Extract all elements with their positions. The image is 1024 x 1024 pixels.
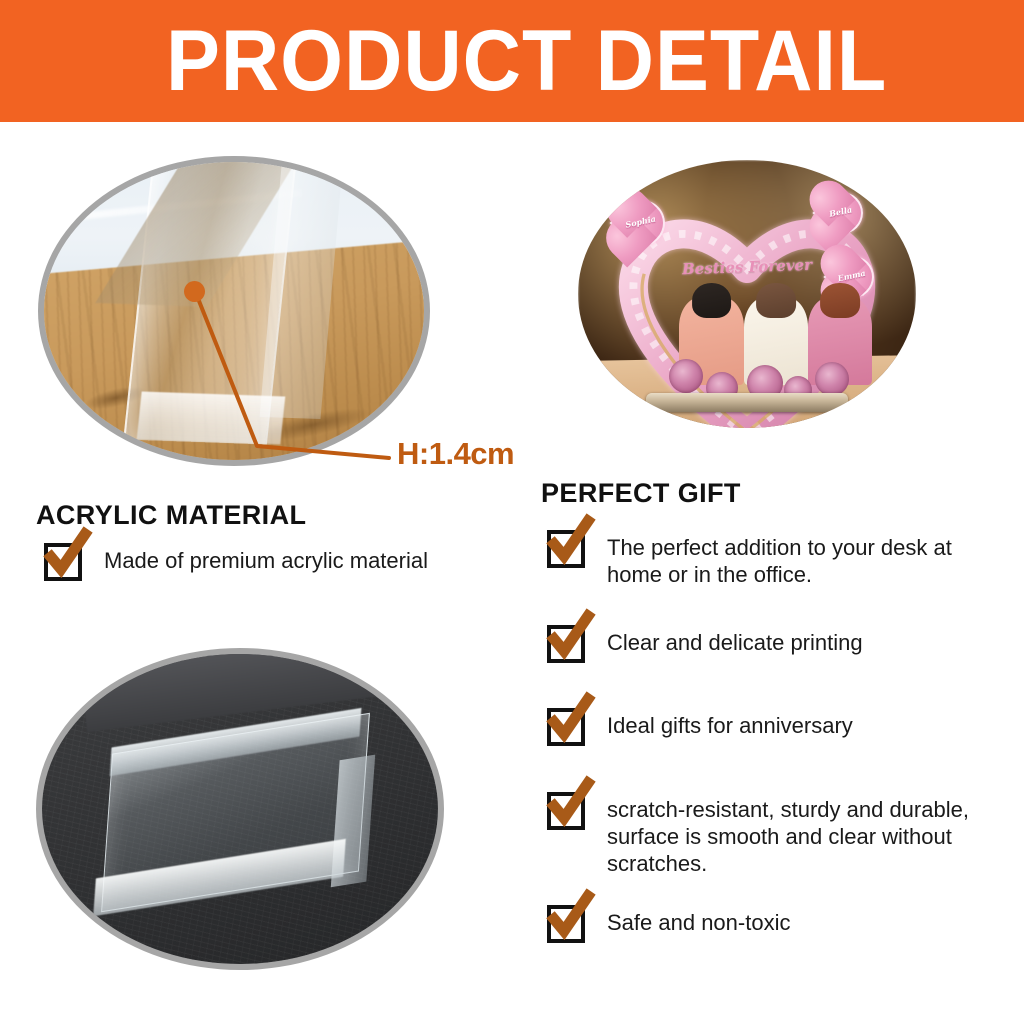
name-heart-bella-label: Bella — [829, 205, 854, 220]
besties-forever-acrylic-plaque: Besties Forever Sophia Bella Emma — [578, 160, 916, 428]
check-row-gift-1: The perfect addition to your desk at hom… — [547, 530, 999, 589]
check-row-gift-2: Clear and delicate printing — [547, 625, 999, 663]
product-detail-page: PRODUCT DETAIL H:1.4cm — [0, 0, 1024, 1024]
checkbox-icon[interactable] — [547, 905, 585, 943]
checkbox-icon[interactable] — [44, 543, 82, 581]
check-label: Clear and delicate printing — [607, 625, 863, 657]
photo-content-flat — [42, 654, 438, 964]
checkmark-icon — [547, 696, 593, 746]
measurement-dot — [184, 281, 205, 302]
checkbox-icon[interactable] — [547, 530, 585, 568]
plaque-base — [646, 393, 849, 412]
check-row-gift-4: scratch-resistant, sturdy and durable, s… — [547, 792, 1007, 877]
check-label: scratch-resistant, sturdy and durable, s… — [607, 792, 1007, 877]
page-header-banner: PRODUCT DETAIL — [0, 0, 1024, 122]
check-row-gift-3: Ideal gifts for anniversary — [547, 708, 999, 746]
check-label: The perfect addition to your desk at hom… — [607, 530, 999, 589]
checkbox-icon[interactable] — [547, 625, 585, 663]
checkmark-icon — [547, 893, 593, 943]
checkmark-icon — [547, 518, 593, 568]
acrylic-block-edge-photo — [38, 156, 430, 466]
checkbox-icon[interactable] — [547, 792, 585, 830]
checkbox-icon[interactable] — [547, 708, 585, 746]
checkmark-icon — [547, 780, 593, 830]
checkmark-icon — [547, 613, 593, 663]
person-center-hair — [756, 283, 796, 318]
checkmark-icon — [44, 531, 90, 581]
section-title-acrylic-material: ACRYLIC MATERIAL — [36, 500, 306, 531]
acrylic-block-base — [137, 392, 286, 445]
section-title-perfect-gift: PERFECT GIFT — [541, 478, 741, 509]
check-row-gift-5: Safe and non-toxic — [547, 905, 999, 943]
photo-content-edge — [44, 162, 424, 460]
height-measurement-label: H:1.4cm — [397, 436, 514, 472]
person-right-hair — [820, 283, 860, 318]
name-heart-sophia-label: Sophia — [624, 214, 656, 230]
check-label: Ideal gifts for anniversary — [607, 708, 853, 740]
check-label: Safe and non-toxic — [607, 905, 790, 937]
check-label: Made of premium acrylic material — [104, 543, 428, 575]
page-title: PRODUCT DETAIL — [166, 18, 887, 104]
check-row-acrylic-1: Made of premium acrylic material — [44, 543, 514, 581]
rose-5 — [815, 362, 849, 396]
acrylic-block-flat-photo — [36, 648, 444, 970]
person-left-hair — [692, 283, 732, 318]
